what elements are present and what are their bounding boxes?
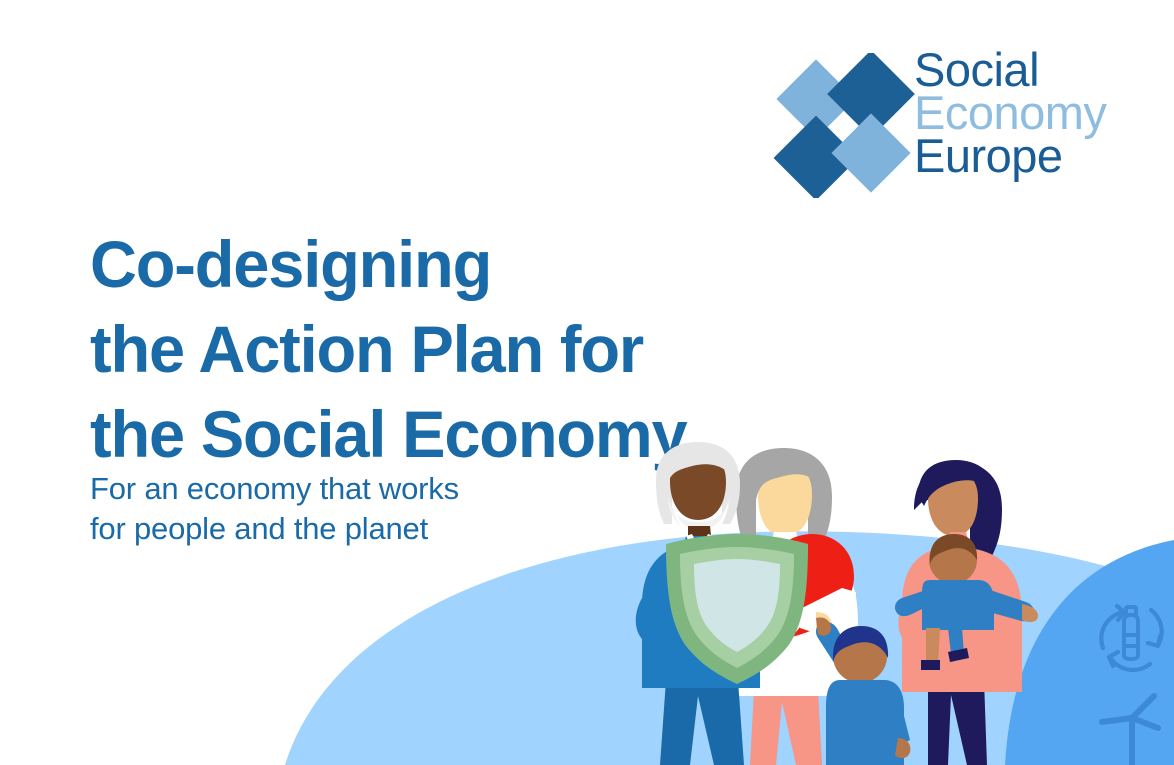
four-diamonds-mark	[770, 53, 920, 198]
diamond-bottom-right	[831, 113, 910, 192]
child-body	[826, 680, 904, 765]
man-legs	[660, 680, 744, 765]
page-subtitle: For an economy that works for people and…	[90, 469, 650, 548]
baby-hand-right	[1022, 604, 1038, 622]
logo-line-europe: Europe	[914, 134, 1106, 177]
subtitle-line-1: For an economy that works	[90, 469, 650, 509]
logo-wordmark: Social Economy Europe	[914, 48, 1106, 178]
logo-line-social: Social	[914, 48, 1106, 91]
logo-line-economy: Economy	[914, 91, 1106, 134]
slide-root: Social Economy Europe Co-designing the A…	[0, 0, 1174, 765]
baby-leg-left	[926, 628, 940, 664]
bottle-glyph	[1124, 607, 1138, 659]
heart-woman-legs	[750, 690, 822, 765]
coral-woman-legs	[928, 680, 987, 765]
family-group-illustration	[618, 440, 1078, 765]
subtitle-line-2: for people and the planet	[90, 509, 650, 549]
logo[interactable]: Social Economy Europe	[770, 48, 1140, 198]
eco-watermark-icons	[1088, 600, 1174, 765]
baby-shoe-left	[921, 660, 940, 670]
wind-turbine-icon	[1102, 696, 1158, 765]
title-line-2: the Action Plan for	[90, 307, 839, 392]
title-line-1: Co-designing	[90, 222, 839, 307]
child-in-blue	[816, 617, 910, 765]
